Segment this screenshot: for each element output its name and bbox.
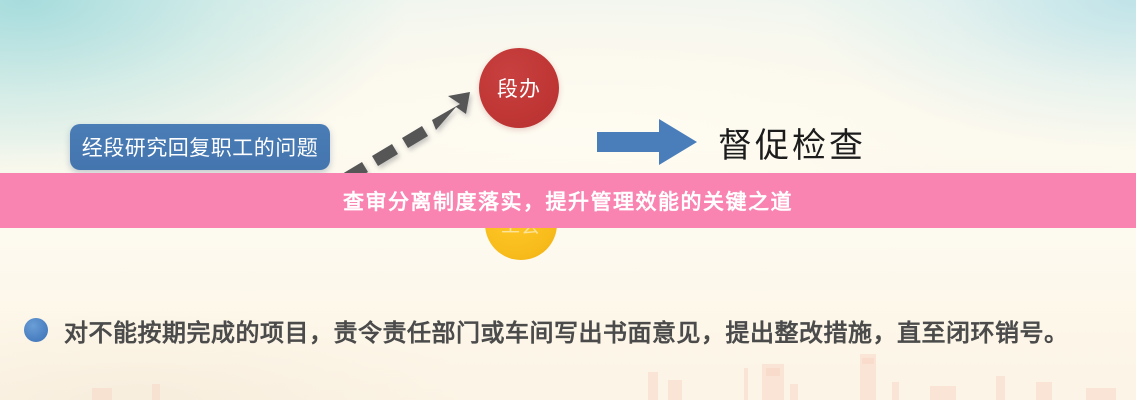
node-red-label: 段办 [497,73,541,103]
headline-banner-title: 查审分离制度落实，提升管理效能的关键之道 [343,186,793,216]
caption-row: 对不能按期完成的项目，责令责任部门或车间写出书面意见，提出整改措施，直至闭环销号… [0,300,1136,360]
node-red-duanban[interactable]: 段办 [479,48,559,128]
process-box-blue[interactable]: 经段研究回复职工的问题 [70,124,330,170]
slide-canvas: 经段研究回复职工的问题 段办 工会 督促检查 [0,0,1136,400]
process-box-label: 经段研究回复职工的问题 [82,132,319,162]
bullet-dot-icon [24,318,48,342]
caption-text: 对不能按期完成的项目，责令责任部门或车间写出书面意见，提出整改措施，直至闭环销号… [64,313,1069,348]
blue-arrow-icon [597,117,699,167]
headline-banner: 查审分离制度落实，提升管理效能的关键之道 [0,173,1136,228]
outcome-label: 督促检查 [718,118,866,167]
